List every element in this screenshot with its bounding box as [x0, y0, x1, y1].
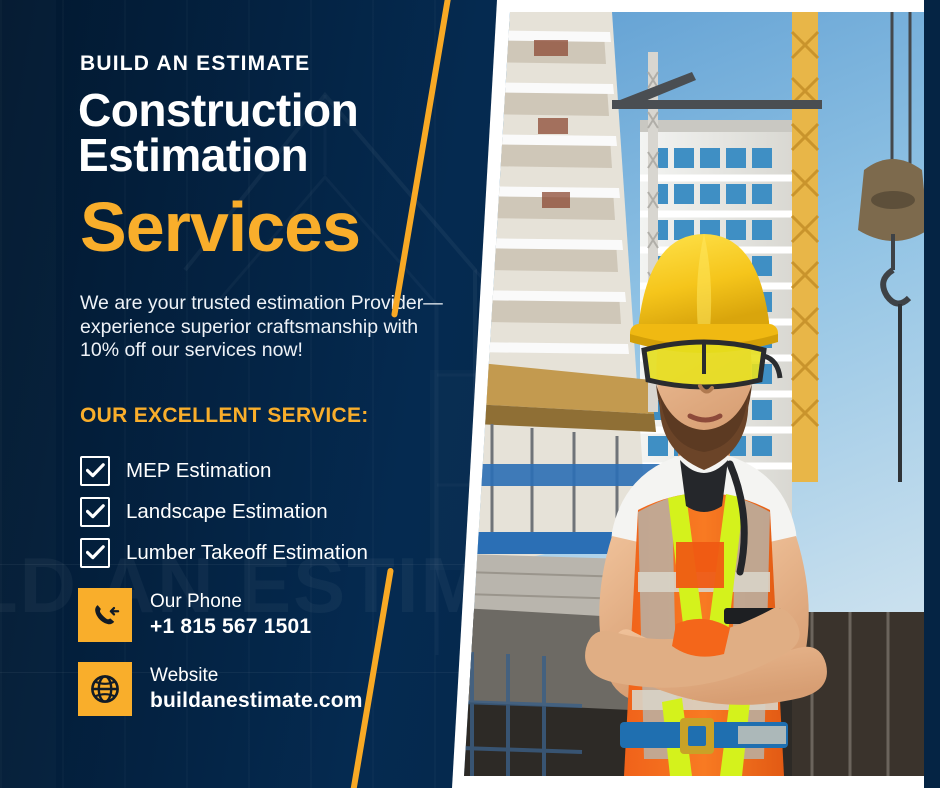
poster-canvas: LD AN ESTIMA — [0, 0, 940, 788]
services-section-title: OUR EXCELLENT SERVICE: — [80, 404, 369, 428]
service-label: Landscape Estimation — [126, 500, 328, 524]
headline-accent: Services — [80, 192, 360, 262]
contact-block: Our Phone +1 815 567 1501 Website — [78, 588, 363, 736]
service-label: Lumber Takeoff Estimation — [126, 541, 368, 565]
contact-website-row[interactable]: Website buildanestimate.com — [78, 662, 363, 716]
service-label: MEP Estimation — [126, 459, 271, 483]
contact-phone-row[interactable]: Our Phone +1 815 567 1501 — [78, 588, 363, 642]
checkbox-checked-icon[interactable] — [80, 456, 110, 486]
headline-line-1: Construction — [78, 88, 358, 133]
contact-label: Website — [150, 664, 363, 688]
photo-panel — [452, 0, 940, 788]
globe-icon[interactable] — [78, 662, 132, 716]
checkbox-checked-icon[interactable] — [80, 538, 110, 568]
phone-icon[interactable] — [78, 588, 132, 642]
headline-line-2: Estimation — [78, 133, 358, 178]
services-checklist: MEP Estimation Landscape Estimation Lumb… — [80, 450, 460, 573]
list-item[interactable]: Lumber Takeoff Estimation — [80, 532, 460, 573]
website-url[interactable]: buildanestimate.com — [150, 688, 363, 714]
eyebrow-text: BUILD AN ESTIMATE — [80, 52, 310, 76]
right-navy-edge — [924, 0, 940, 788]
left-content-panel: BUILD AN ESTIMATE Construction Estimatio… — [0, 0, 470, 788]
phone-number[interactable]: +1 815 567 1501 — [150, 614, 311, 640]
list-item[interactable]: MEP Estimation — [80, 450, 460, 491]
photo-image — [464, 12, 940, 776]
contact-label: Our Phone — [150, 590, 311, 614]
checkbox-checked-icon[interactable] — [80, 497, 110, 527]
list-item[interactable]: Landscape Estimation — [80, 491, 460, 532]
page-title: Construction Estimation — [78, 88, 358, 178]
